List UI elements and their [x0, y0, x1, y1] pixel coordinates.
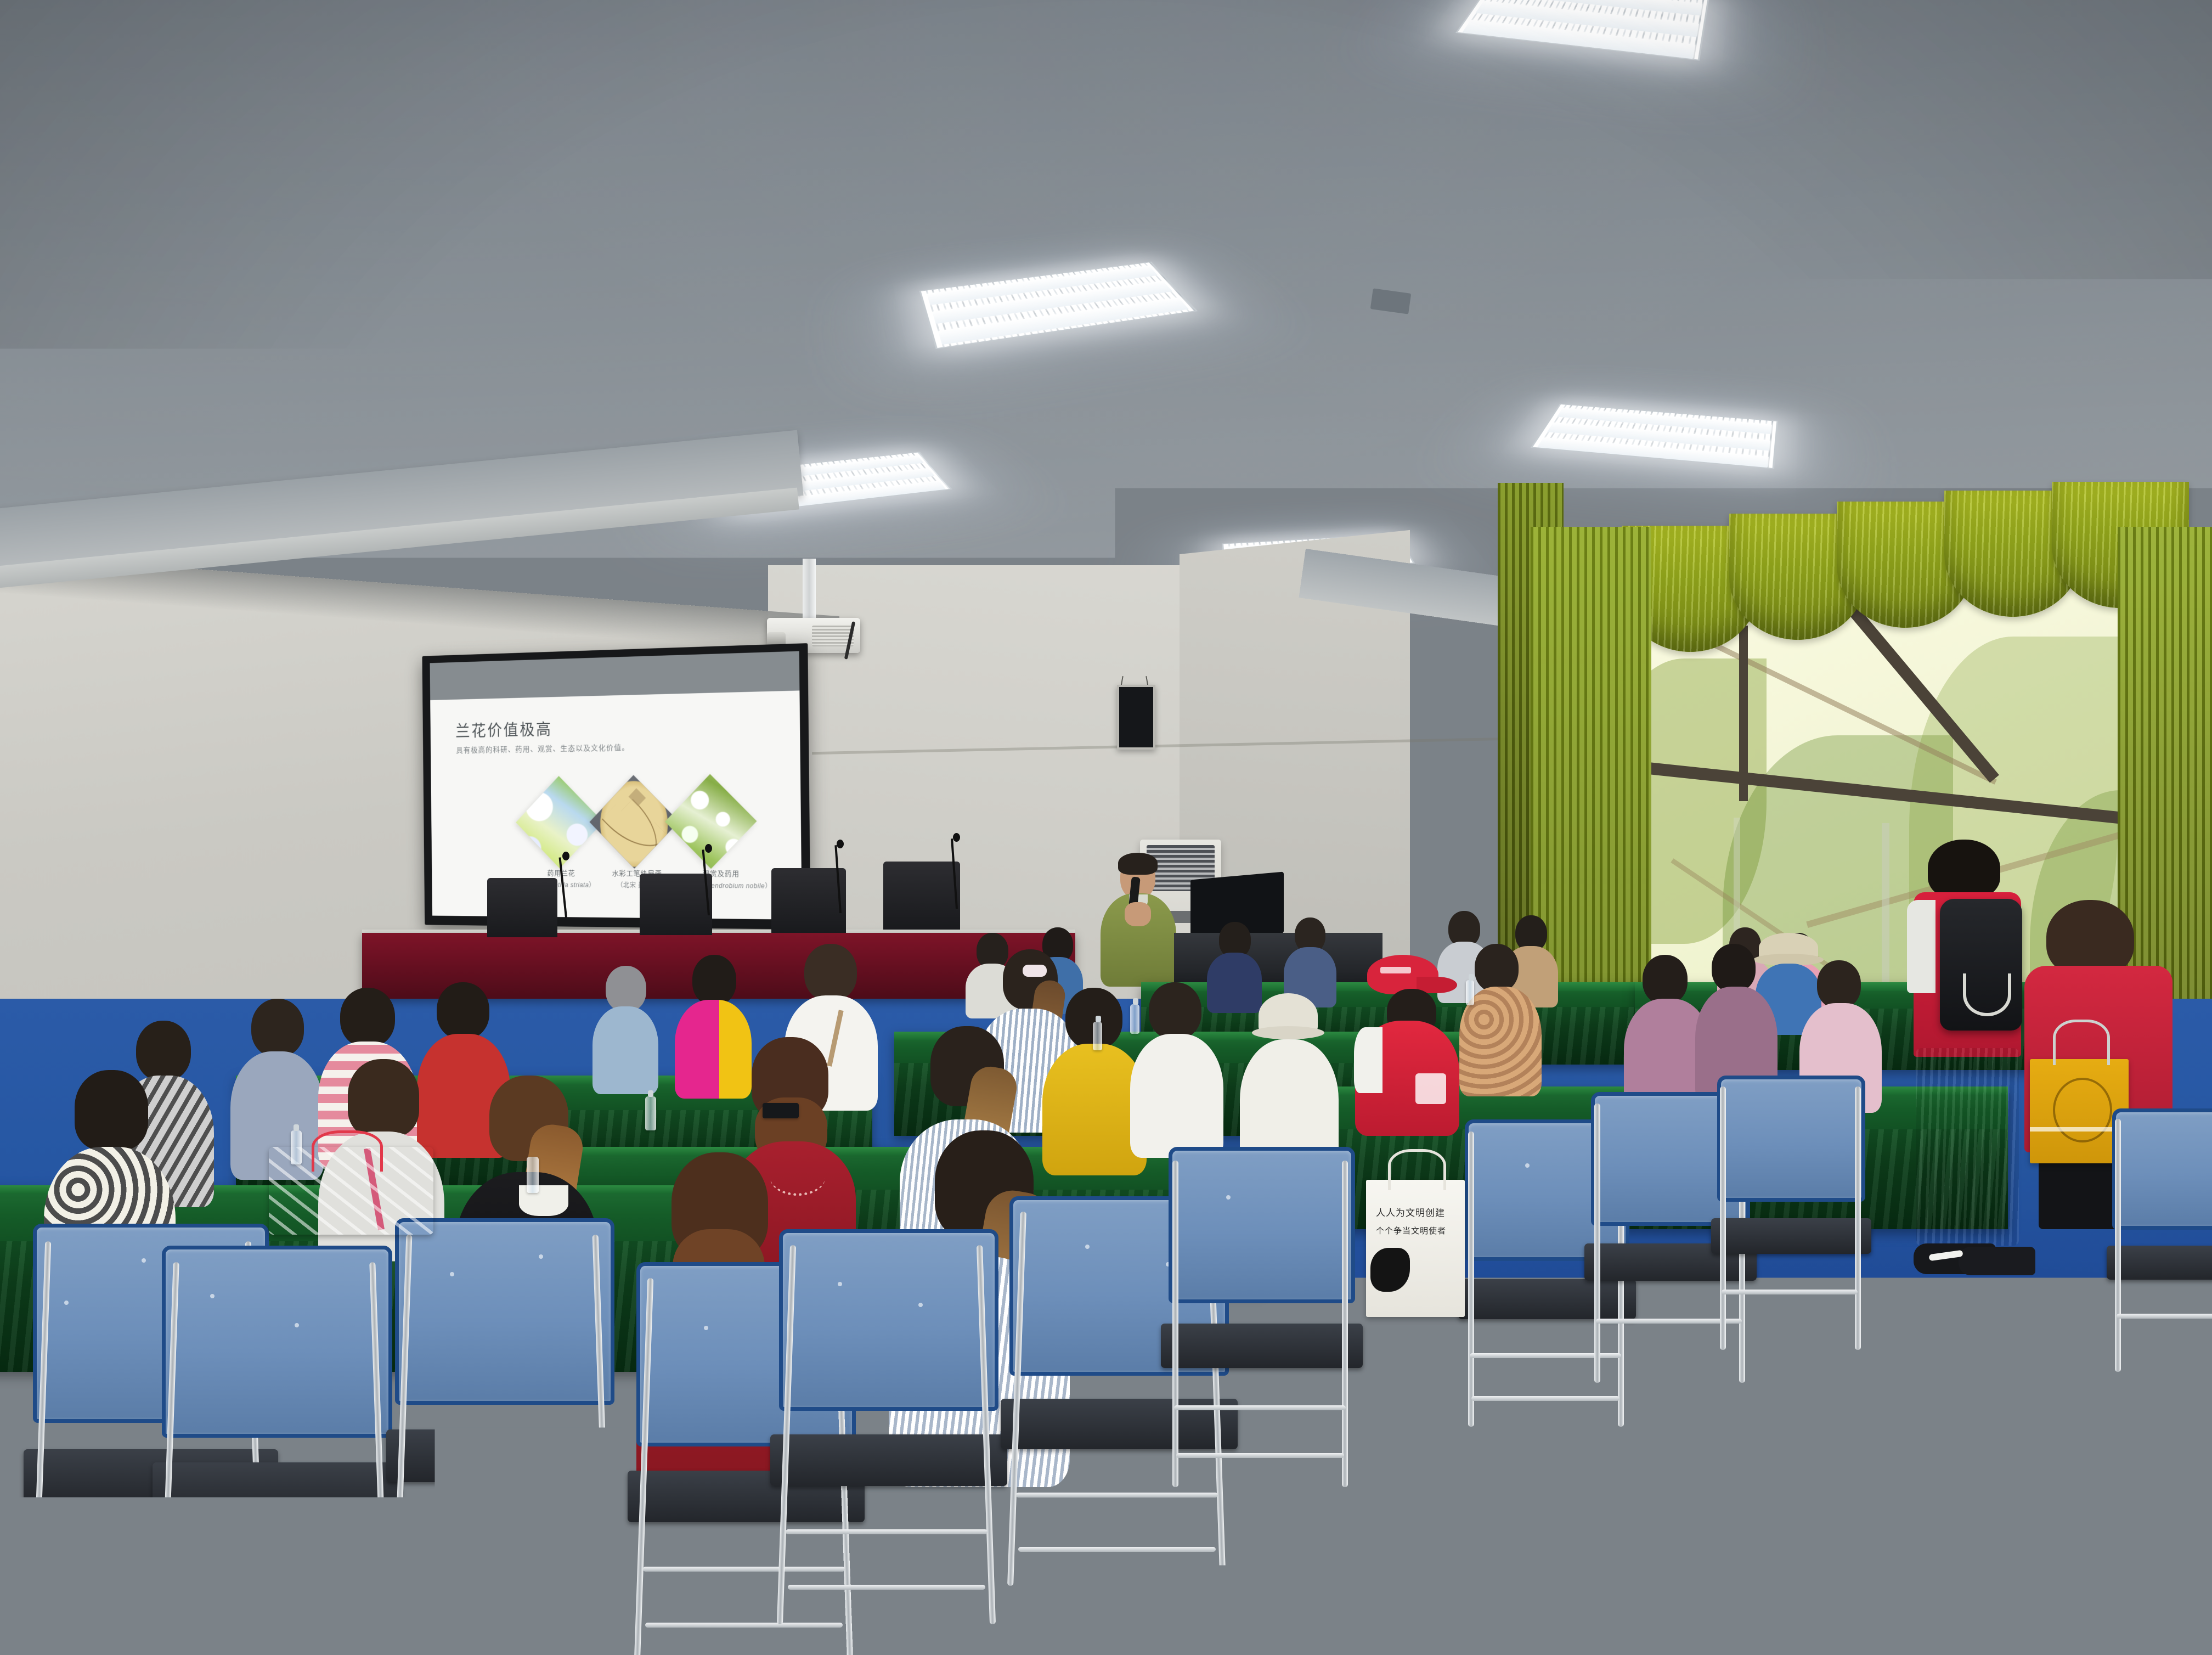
red-tote-handle	[312, 1130, 383, 1172]
folding-chair-2[interactable]	[162, 1246, 392, 1655]
volunteer-red-vest	[1355, 955, 1459, 1141]
audience-patterned-top	[1459, 944, 1542, 1103]
wall-speaker	[1117, 685, 1155, 750]
white-tote-text-line2: 个个争当文明使者	[1376, 1225, 1464, 1236]
slide-title: 兰花价值极高	[455, 716, 552, 741]
standing-man-jeans	[1916, 1048, 2019, 1246]
red-cap-logo	[1380, 967, 1411, 973]
white-tote-handle	[1388, 1149, 1446, 1190]
panel-chair-4[interactable]	[883, 862, 960, 930]
presenter-hair	[1118, 853, 1158, 875]
panel-chair-3[interactable]	[771, 868, 846, 933]
water-bottle-5	[1466, 980, 1474, 1005]
standing-man-hair	[1928, 840, 2000, 899]
white-tote-text-line1: 人人为文明创建	[1376, 1205, 1458, 1219]
white-tote-ink-splash	[1370, 1248, 1410, 1292]
audience-gray-hair-man	[592, 966, 658, 1092]
microphone-head-1	[562, 852, 569, 860]
folding-chair-7[interactable]	[1169, 1147, 1355, 1487]
volunteer-sleeve	[1354, 1027, 1383, 1093]
audience-white-shirt-2	[1130, 982, 1223, 1158]
standing-man-sleeve	[1907, 900, 1936, 993]
folding-chair-11[interactable]	[2112, 1108, 2212, 1372]
water-bottle-2	[291, 1130, 302, 1164]
water-bottle-4	[1093, 1022, 1102, 1050]
panel-chair-2[interactable]	[640, 874, 712, 935]
water-bottle-1	[645, 1096, 656, 1130]
lecture-hall-photo: 兰花价值极高 具有极高的科研、药用、观赏、生态以及文化价值。 药用兰花 （白及	[0, 0, 2212, 1655]
yellow-tote-handle	[2053, 1020, 2110, 1065]
microphone-head-3	[837, 840, 844, 848]
folding-chair-10[interactable]	[1717, 1076, 1865, 1350]
yellow-tote-logo	[2053, 1078, 2112, 1142]
audience-back-4	[1284, 917, 1336, 1004]
panel-chair-1[interactable]	[487, 878, 557, 937]
woman-red-top-hair	[2046, 900, 2134, 977]
presenter	[1097, 856, 1180, 993]
hair-clip	[1023, 965, 1047, 977]
phone-case-1	[688, 1168, 708, 1184]
projector-mount-pole	[803, 559, 816, 624]
standing-man-with-backpack	[1904, 840, 2030, 1311]
backpack-drawcord	[1963, 973, 2011, 1016]
slide-subtitle: 具有极高的科研、药用、观赏、生态以及文化价值。	[456, 742, 629, 756]
slide-canvas: 兰花价值极高 具有极高的科研、药用、观赏、生态以及文化价值。 药用兰花 （白及	[430, 690, 802, 919]
screen-frame: 兰花价值极高 具有极高的科研、药用、观赏、生态以及文化价值。 药用兰花 （白及	[422, 643, 811, 930]
slide-image-3	[665, 774, 757, 869]
folding-chair-3[interactable]	[395, 1218, 614, 1624]
white-tote-bag: 人人为文明创建 个个争当文明使者	[1366, 1180, 1465, 1317]
presenter-hands	[1125, 902, 1151, 926]
projection-screen: 兰花价值极高 具有极高的科研、药用、观赏、生态以及文化价值。 药用兰花 （白及	[392, 643, 809, 930]
microphone-head-4	[953, 833, 960, 842]
water-bottle-3	[1130, 1004, 1139, 1034]
vest-logo	[1415, 1073, 1446, 1104]
water-bottle-6	[527, 1157, 539, 1193]
phone-on-table-2	[763, 1103, 799, 1118]
microphone-head-2	[705, 844, 712, 853]
folding-chair-5[interactable]	[779, 1229, 998, 1624]
sneaker-right	[1959, 1247, 2035, 1275]
